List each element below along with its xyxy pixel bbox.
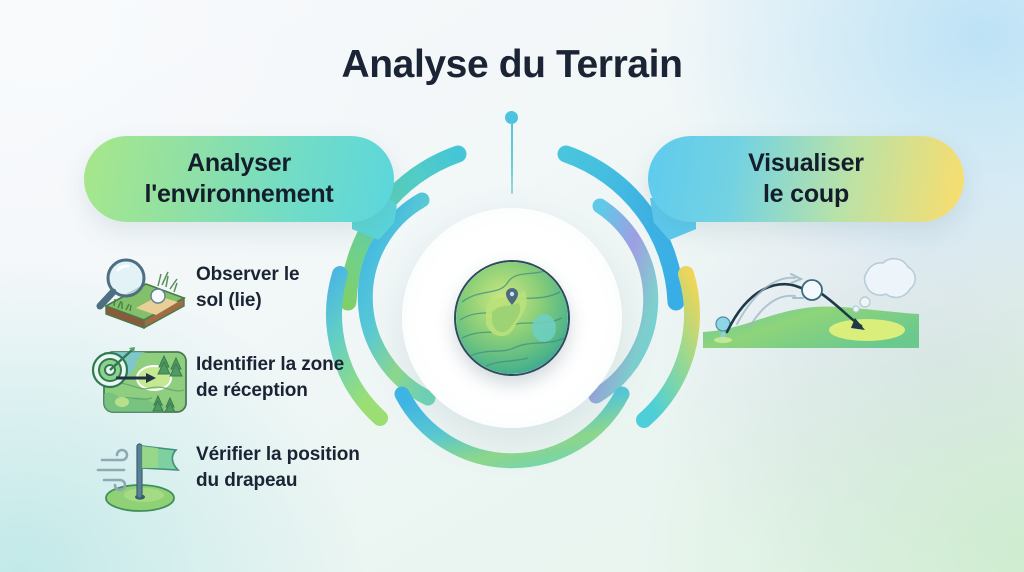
golf-shot-trajectory-icon (697, 252, 925, 364)
list-item-label: Identifier la zone de réception (196, 340, 344, 403)
magnifier-turf-icon (84, 250, 196, 330)
list-item-label: Observer le sol (lie) (196, 250, 299, 313)
flag-green-wind-icon (84, 430, 196, 514)
left-branch-label: Analyser l'environnement (144, 148, 333, 211)
right-branch-label: Visualiser le coup (748, 148, 864, 211)
left-branch-pill[interactable]: Analyser l'environnement (84, 136, 394, 222)
list-item[interactable]: Vérifier la position du drapeau (84, 430, 404, 520)
steps-list: Observer le sol (lie) (84, 250, 404, 520)
target-course-map-icon (84, 340, 196, 420)
list-item-label: Vérifier la position du drapeau (196, 430, 360, 493)
page-title: Analyse du Terrain (0, 43, 1024, 87)
list-item[interactable]: Identifier la zone de réception (84, 340, 404, 430)
topographic-globe-icon (454, 260, 570, 376)
thought-bubble-icon (853, 259, 915, 312)
list-item[interactable]: Observer le sol (lie) (84, 250, 404, 340)
infographic-canvas: Analyse du Terrain (0, 0, 1024, 572)
right-branch-pill[interactable]: Visualiser le coup (648, 136, 964, 222)
